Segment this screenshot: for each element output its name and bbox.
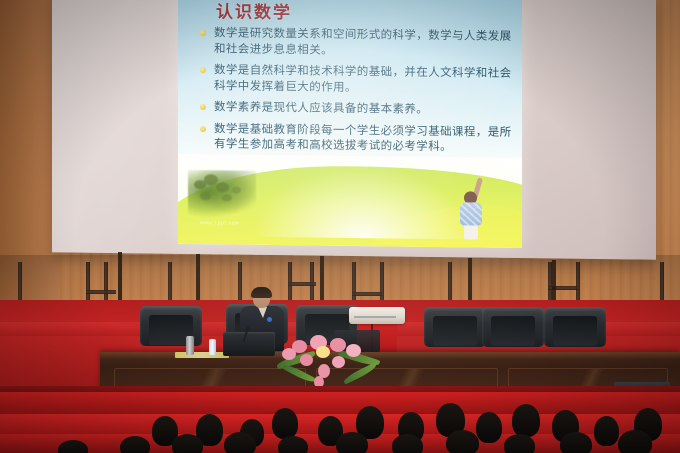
stage-chair-5 [482, 307, 544, 355]
projected-slide: 认识数学 数学是研究数量关系和空间形式的科学，数学与人类发展和社会进步息息相关。… [178, 0, 522, 248]
flower-leaf [342, 362, 377, 384]
chair-cushion [491, 316, 535, 346]
flower-bloom [346, 344, 361, 357]
child-body [460, 202, 482, 225]
desk-papers [175, 352, 229, 358]
flower-bloom [316, 346, 330, 358]
audience-head [336, 432, 368, 453]
chair-cushion [433, 316, 477, 346]
flower-bloom [332, 356, 345, 368]
slide-bullet-1: 数学是研究数量关系和空间形式的科学，数学与人类发展和社会进步息息相关。 [196, 25, 514, 60]
illustration-watermark: www.1ppt.com [200, 220, 240, 226]
audience-head [594, 416, 619, 446]
audience-head [504, 434, 535, 453]
lectern-detail [354, 316, 396, 318]
stage-chair-4 [424, 307, 486, 355]
slide-title: 认识数学 [216, 0, 292, 23]
audience-head [120, 436, 150, 453]
screen-leg [552, 260, 556, 304]
audience-head [446, 430, 479, 453]
audience-head [58, 440, 88, 453]
audience-seat-row [0, 392, 680, 414]
slide-bullet-4: 数学是基础教育阶段每一个学生必须学习基础课程，是所有学生参加高考和高校选拔考试的… [196, 121, 514, 156]
screen-leg [320, 256, 324, 304]
lecture-hall-photo: 认识数学 数学是研究数量关系和空间形式的科学，数学与人类发展和社会进步息息相关。… [0, 0, 680, 453]
screen-leg [118, 252, 122, 302]
water-bottle [209, 339, 216, 355]
flower-leaf [282, 362, 315, 384]
chair-cushion [553, 316, 597, 346]
audience-head [392, 434, 423, 453]
stage-chair-6 [544, 307, 606, 355]
presenter-hair [251, 287, 272, 298]
slide-bullet-3: 数学素养是现代人应该具备的基本素养。 [196, 99, 514, 118]
screen-leg [196, 254, 200, 304]
thermos-cup [186, 336, 194, 355]
screen-leg [468, 258, 472, 304]
audience-head [278, 436, 308, 453]
flower-bloom [300, 354, 313, 366]
audience-head [560, 432, 592, 453]
audience-head [618, 430, 652, 453]
flower-bloom [282, 348, 296, 360]
projection-screen: 认识数学 数学是研究数量关系和空间形式的科学，数学与人类发展和社会进步息息相关。… [52, 0, 656, 260]
audience-head [172, 434, 203, 453]
slide-bullet-list: 数学是研究数量关系和空间形式的科学，数学与人类发展和社会进步息息相关。 数学是自… [196, 25, 514, 161]
slide-bullet-2: 数学是自然科学和技术科学的基础，并在人文科学和社会科学中发挥着巨大的作用。 [196, 62, 514, 97]
illustration-haze [248, 163, 478, 240]
child-figure [458, 181, 488, 241]
audience-head [512, 404, 540, 437]
audience-area [0, 392, 680, 453]
presenter-badge [267, 317, 272, 322]
wall-shadow [0, 255, 680, 305]
audience-head [272, 408, 298, 439]
laptop-screen [223, 332, 275, 356]
tree-icon [188, 170, 256, 219]
slide-illustration: www.1ppt.com [178, 154, 522, 248]
flower-bloom [330, 338, 346, 352]
child-legs [464, 223, 478, 239]
audience-head [476, 412, 502, 443]
audience-head [224, 432, 256, 453]
